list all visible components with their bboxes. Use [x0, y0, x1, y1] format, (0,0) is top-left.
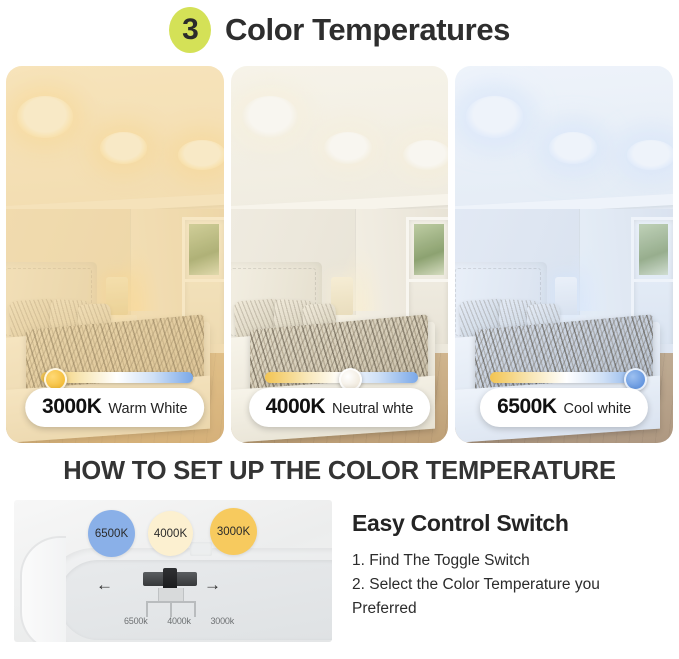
room-scene — [6, 66, 224, 443]
kelvin-name: Cool white — [564, 401, 632, 417]
toggle-tick-labels: 6500k 4000k 3000k — [124, 616, 234, 626]
tick-label-4000k: 4000k — [167, 616, 191, 626]
panel-3000k[interactable]: 3000K Warm White — [6, 66, 224, 443]
kelvin-name: Neutral whte — [332, 401, 413, 417]
neutral-tint-overlay — [231, 66, 449, 443]
temperature-slider[interactable] — [265, 370, 417, 385]
tick-label-6500k: 6500k — [124, 616, 148, 626]
temperature-slider[interactable] — [41, 370, 193, 385]
count-badge: 3 — [169, 7, 211, 53]
instructions-block: Easy Control Switch 1. Find The Toggle S… — [352, 500, 652, 659]
instructions-title: Easy Control Switch — [352, 510, 652, 537]
bubble-3000k: 3000K — [210, 508, 257, 555]
panel-label-3000k: 3000K Warm White — [25, 388, 205, 427]
page-header: 3 Color Temperatures — [0, 0, 679, 60]
light-fixture-rim — [20, 536, 66, 642]
kelvin-value: 6500K — [497, 395, 556, 419]
fixture-notch — [190, 542, 212, 556]
switch-diagram: 6500K 4000K 3000K ← → 6500k 4000k 3000k — [14, 500, 332, 642]
room-scene — [231, 66, 449, 443]
panel-label-6500k: 6500K Cool white — [480, 388, 648, 427]
bubble-6500k: 6500K — [88, 510, 135, 557]
tick-label-3000k: 3000k — [210, 616, 234, 626]
panel-4000k[interactable]: 4000K Neutral whte — [231, 66, 449, 443]
setup-section: 6500K 4000K 3000K ← → 6500k 4000k 3000k … — [0, 500, 679, 659]
arrow-left-icon: ← — [96, 576, 113, 593]
kelvin-value: 3000K — [42, 395, 101, 419]
temperature-slider[interactable] — [490, 370, 642, 385]
kelvin-name: Warm White — [108, 401, 187, 417]
panel-label-4000k: 4000K Neutral whte — [249, 388, 431, 427]
warm-glow-overlay — [6, 66, 224, 443]
toggle-contacts — [146, 601, 196, 617]
slider-track[interactable] — [490, 372, 642, 383]
page-title: Color Temperatures — [225, 12, 510, 48]
arrow-right-icon: → — [204, 576, 221, 593]
kelvin-value: 4000K — [266, 395, 325, 419]
bubble-4000k: 4000K — [148, 511, 193, 556]
instruction-step-1: 1. Find The Toggle Switch — [352, 549, 652, 573]
color-temperature-panels: 3000K Warm White — [6, 66, 673, 443]
instruction-step-2: 2. Select the Color Temperature you Pref… — [352, 573, 652, 621]
section-title: HOW TO SET UP THE COLOR TEMPERATURE — [0, 457, 679, 486]
panel-6500k[interactable]: 6500K Cool white — [455, 66, 673, 443]
